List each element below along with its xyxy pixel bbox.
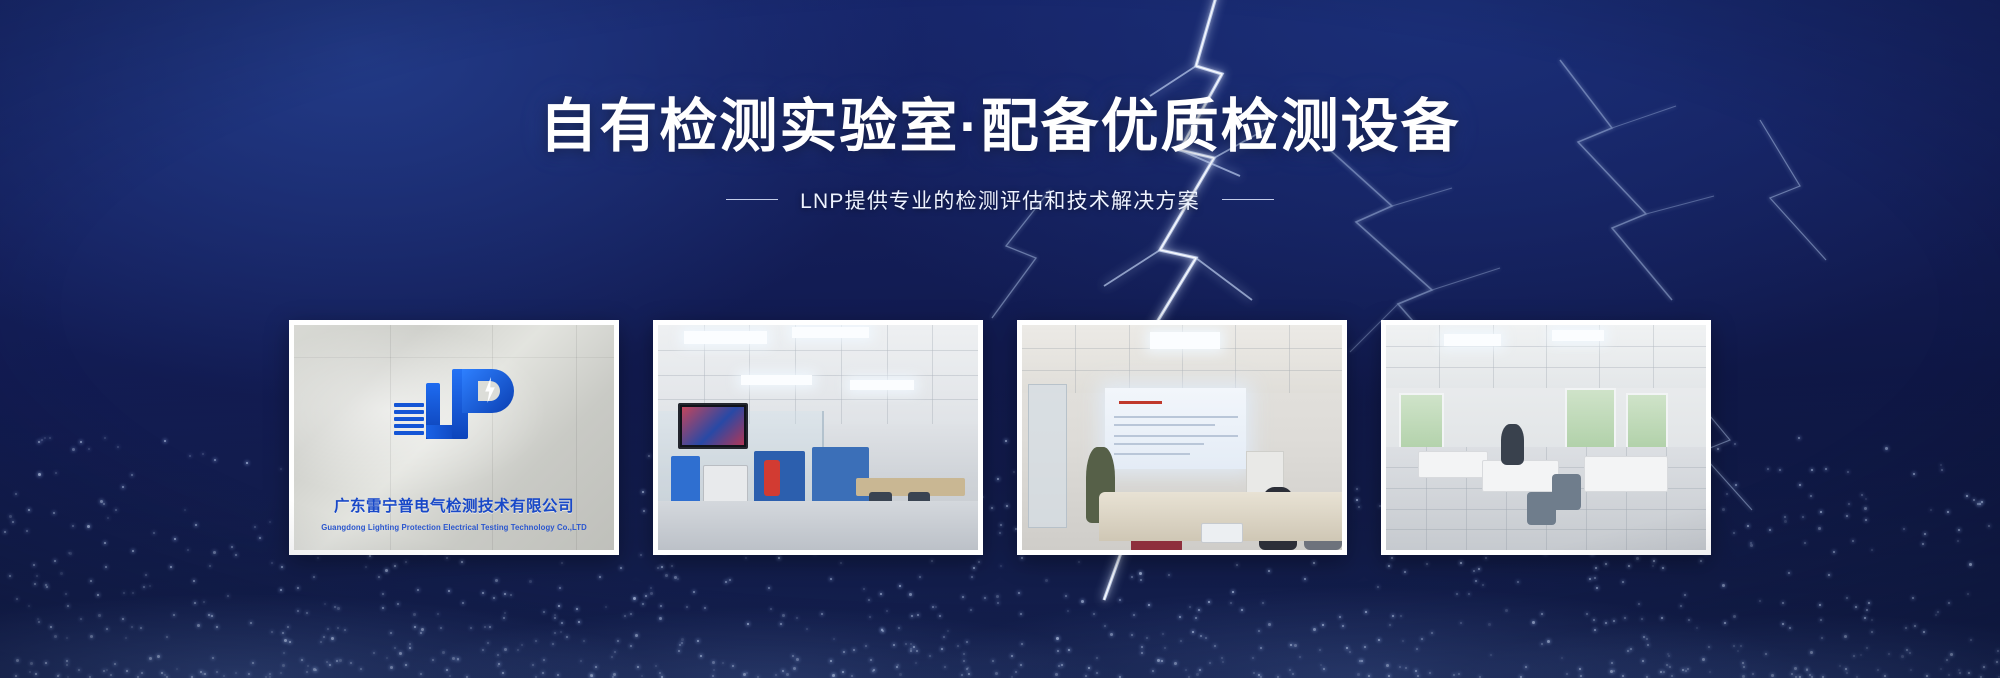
rule-left-icon bbox=[726, 199, 778, 200]
slide-line bbox=[1114, 416, 1238, 418]
floor bbox=[658, 501, 978, 551]
ceiling-light bbox=[684, 331, 767, 344]
ceiling-light bbox=[741, 375, 811, 386]
projection-screen bbox=[1105, 388, 1246, 469]
logo-bars-icon bbox=[394, 403, 424, 435]
ceiling-grid bbox=[1386, 325, 1706, 388]
gallery-item-meeting-room-training[interactable] bbox=[1017, 320, 1347, 555]
gallery-item-testing-laboratory[interactable] bbox=[653, 320, 983, 555]
rule-right-icon bbox=[1222, 199, 1274, 200]
photo-meeting-room-training bbox=[1022, 325, 1342, 550]
wall-seam bbox=[294, 357, 614, 358]
ceiling-light bbox=[1552, 330, 1603, 341]
slide-line bbox=[1114, 424, 1215, 426]
lnp-logo-icon bbox=[294, 369, 614, 439]
door bbox=[1028, 384, 1066, 528]
photo-gallery: 广东雷宁普电气检测技术有限公司 Guangdong Lighting Prote… bbox=[289, 320, 1711, 555]
page-subtitle: LNP提供专业的检测评估和技术解决方案 bbox=[800, 185, 1200, 215]
photo-company-signage-wall: 广东雷宁普电气检测技术有限公司 Guangdong Lighting Prote… bbox=[294, 325, 614, 550]
reception-desk bbox=[1584, 456, 1667, 492]
logo-letter-l-icon bbox=[426, 383, 440, 439]
hero-banner: 自有检测实验室·配备优质检测设备 LNP提供专业的检测评估和技术解决方案 bbox=[0, 0, 2000, 678]
window bbox=[1565, 388, 1616, 456]
ceiling-light bbox=[792, 327, 869, 338]
hero-subtitle-row: LNP提供专业的检测评估和技术解决方案 bbox=[0, 185, 2000, 215]
slide-heading bbox=[1119, 401, 1161, 404]
fire-extinguisher bbox=[764, 460, 780, 496]
gallery-item-office-area[interactable] bbox=[1381, 320, 1711, 555]
office-desk bbox=[1482, 460, 1559, 492]
photo-testing-laboratory bbox=[658, 325, 978, 550]
slide-line bbox=[1114, 443, 1204, 445]
wall-monitor bbox=[678, 403, 748, 449]
page-title: 自有检测实验室·配备优质检测设备 bbox=[0, 96, 2000, 159]
photo-office-area bbox=[1386, 325, 1706, 550]
office-chair bbox=[1527, 492, 1556, 526]
ceiling-light bbox=[850, 380, 914, 390]
slide-line bbox=[1114, 453, 1190, 455]
laptop bbox=[1201, 523, 1243, 543]
ceiling-light bbox=[1150, 332, 1220, 350]
lab-equipment bbox=[812, 447, 870, 506]
hero-copy: 自有检测实验室·配备优质检测设备 LNP提供专业的检测评估和技术解决方案 bbox=[0, 96, 2000, 215]
gallery-item-company-signage-wall[interactable]: 广东雷宁普电气检测技术有限公司 Guangdong Lighting Prote… bbox=[289, 320, 619, 555]
person-worker bbox=[1501, 424, 1523, 465]
office-desk bbox=[1418, 451, 1488, 478]
ceiling bbox=[1386, 325, 1706, 388]
ceiling-light bbox=[1444, 334, 1502, 347]
logo-letter-p-icon bbox=[452, 369, 514, 439]
slide-line bbox=[1114, 435, 1238, 437]
monitor-screen bbox=[682, 407, 744, 445]
company-name-cn: 广东雷宁普电气检测技术有限公司 bbox=[294, 494, 614, 516]
company-name-en: Guangdong Lighting Protection Electrical… bbox=[299, 523, 609, 532]
office-chair bbox=[1552, 474, 1581, 510]
ceiling bbox=[1022, 325, 1342, 393]
